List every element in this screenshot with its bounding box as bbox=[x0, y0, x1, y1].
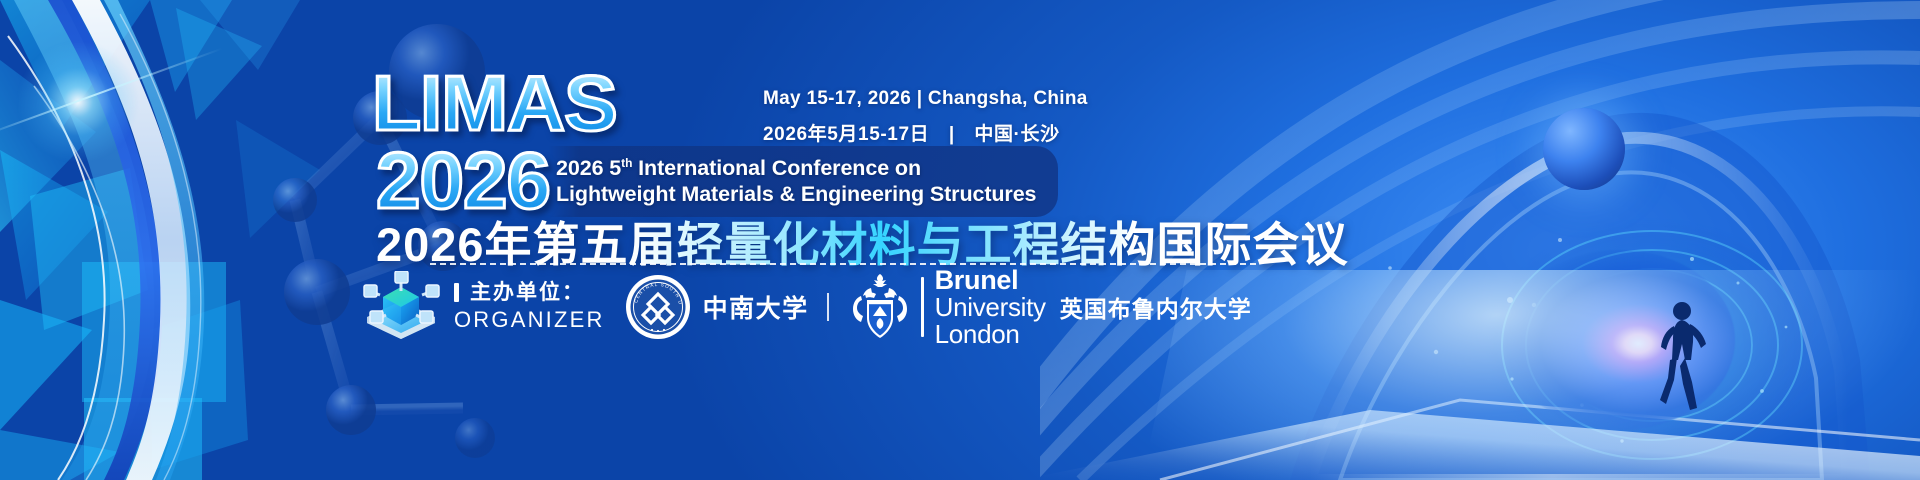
lightweight-structure-cube-icon bbox=[362, 271, 440, 343]
brunel-line2: University bbox=[935, 294, 1046, 321]
organizer-label-en: ORGANIZER bbox=[454, 306, 605, 335]
organizer-label-cn: 主办单位： bbox=[454, 280, 605, 306]
english-title-line1-suffix: International Conference on bbox=[632, 156, 921, 180]
logo-acronym: LIMAS bbox=[372, 68, 650, 140]
ordinal-suffix: th bbox=[621, 156, 632, 170]
brunel-name-en: Brunel University London bbox=[935, 267, 1046, 348]
english-title-line1-prefix: 2026 5 bbox=[556, 156, 621, 180]
conference-banner: LIMAS 2026 May 15-17, 2026 | Changsha, C… bbox=[0, 0, 1920, 480]
brunel-line3: London bbox=[935, 321, 1046, 348]
banner-content: LIMAS 2026 May 15-17, 2026 | Changsha, C… bbox=[0, 0, 1920, 480]
english-title-line1: 2026 5th International Conference on bbox=[556, 155, 1036, 181]
brunel-divider bbox=[921, 277, 924, 337]
dashed-divider bbox=[430, 263, 1256, 265]
organizer-label: 主办单位： ORGANIZER bbox=[454, 280, 605, 335]
brunel-name-cn: 英国布鲁内尔大学 bbox=[1060, 290, 1252, 324]
brunel-university-crest bbox=[847, 272, 913, 342]
date-location-block: May 15-17, 2026 | Changsha, China 2026年5… bbox=[763, 88, 1088, 146]
date-location-cn: 2026年5月15-17日 | 中国·长沙 bbox=[763, 119, 1088, 146]
english-title-line2: Lightweight Materials & Engineering Stru… bbox=[556, 181, 1036, 207]
csu-name-cn: 中南大学 bbox=[703, 289, 809, 325]
organizer-separator bbox=[827, 293, 829, 321]
date-location-en: May 15-17, 2026 | Changsha, China bbox=[763, 88, 1088, 109]
central-south-university-seal: CENTRAL SOUTH UNIVERSITY bbox=[625, 274, 691, 340]
organizer-row: 主办单位： ORGANIZER CENTRAL SOUTH UNIVERSITY bbox=[362, 272, 1252, 342]
brunel-line1: Brunel bbox=[935, 267, 1046, 295]
